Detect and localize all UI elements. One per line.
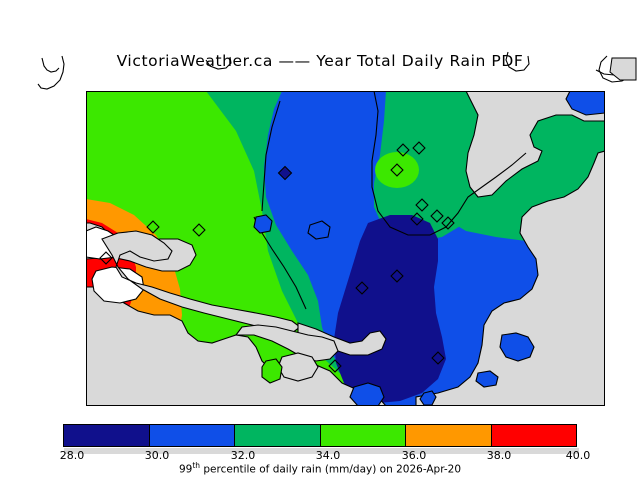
contour-map-svg: [86, 91, 605, 406]
colorbar-band-green[interactable]: [321, 425, 407, 446]
caption-prefix: 99: [179, 464, 192, 476]
colorbar-band-navy[interactable]: [64, 425, 150, 446]
colorbar[interactable]: [63, 424, 577, 447]
caption-superscript: th: [192, 461, 200, 470]
band-green-island-blob: [375, 152, 419, 188]
page-title: VictoriaWeather.ca —— Year Total Daily R…: [0, 52, 640, 70]
colorbar-band-orange[interactable]: [406, 425, 492, 446]
water-small-bay-mid: [254, 215, 272, 233]
colorbar-band-blue[interactable]: [150, 425, 236, 446]
colorbar-band-seagreen[interactable]: [235, 425, 321, 446]
contour-map-plot[interactable]: [86, 91, 605, 406]
land-island-small-a: [278, 353, 318, 381]
weather-map-figure: VictoriaWeather.ca —— Year Total Daily R…: [0, 0, 640, 480]
water-bay-south-centre: [350, 383, 384, 406]
colorbar-band-red[interactable]: [492, 425, 577, 446]
water-notch-south: [262, 359, 282, 383]
caption-suffix: percentile of daily rain (mm/day) on 202…: [200, 464, 461, 476]
colorbar-caption: 99th percentile of daily rain (mm/day) o…: [0, 461, 640, 476]
